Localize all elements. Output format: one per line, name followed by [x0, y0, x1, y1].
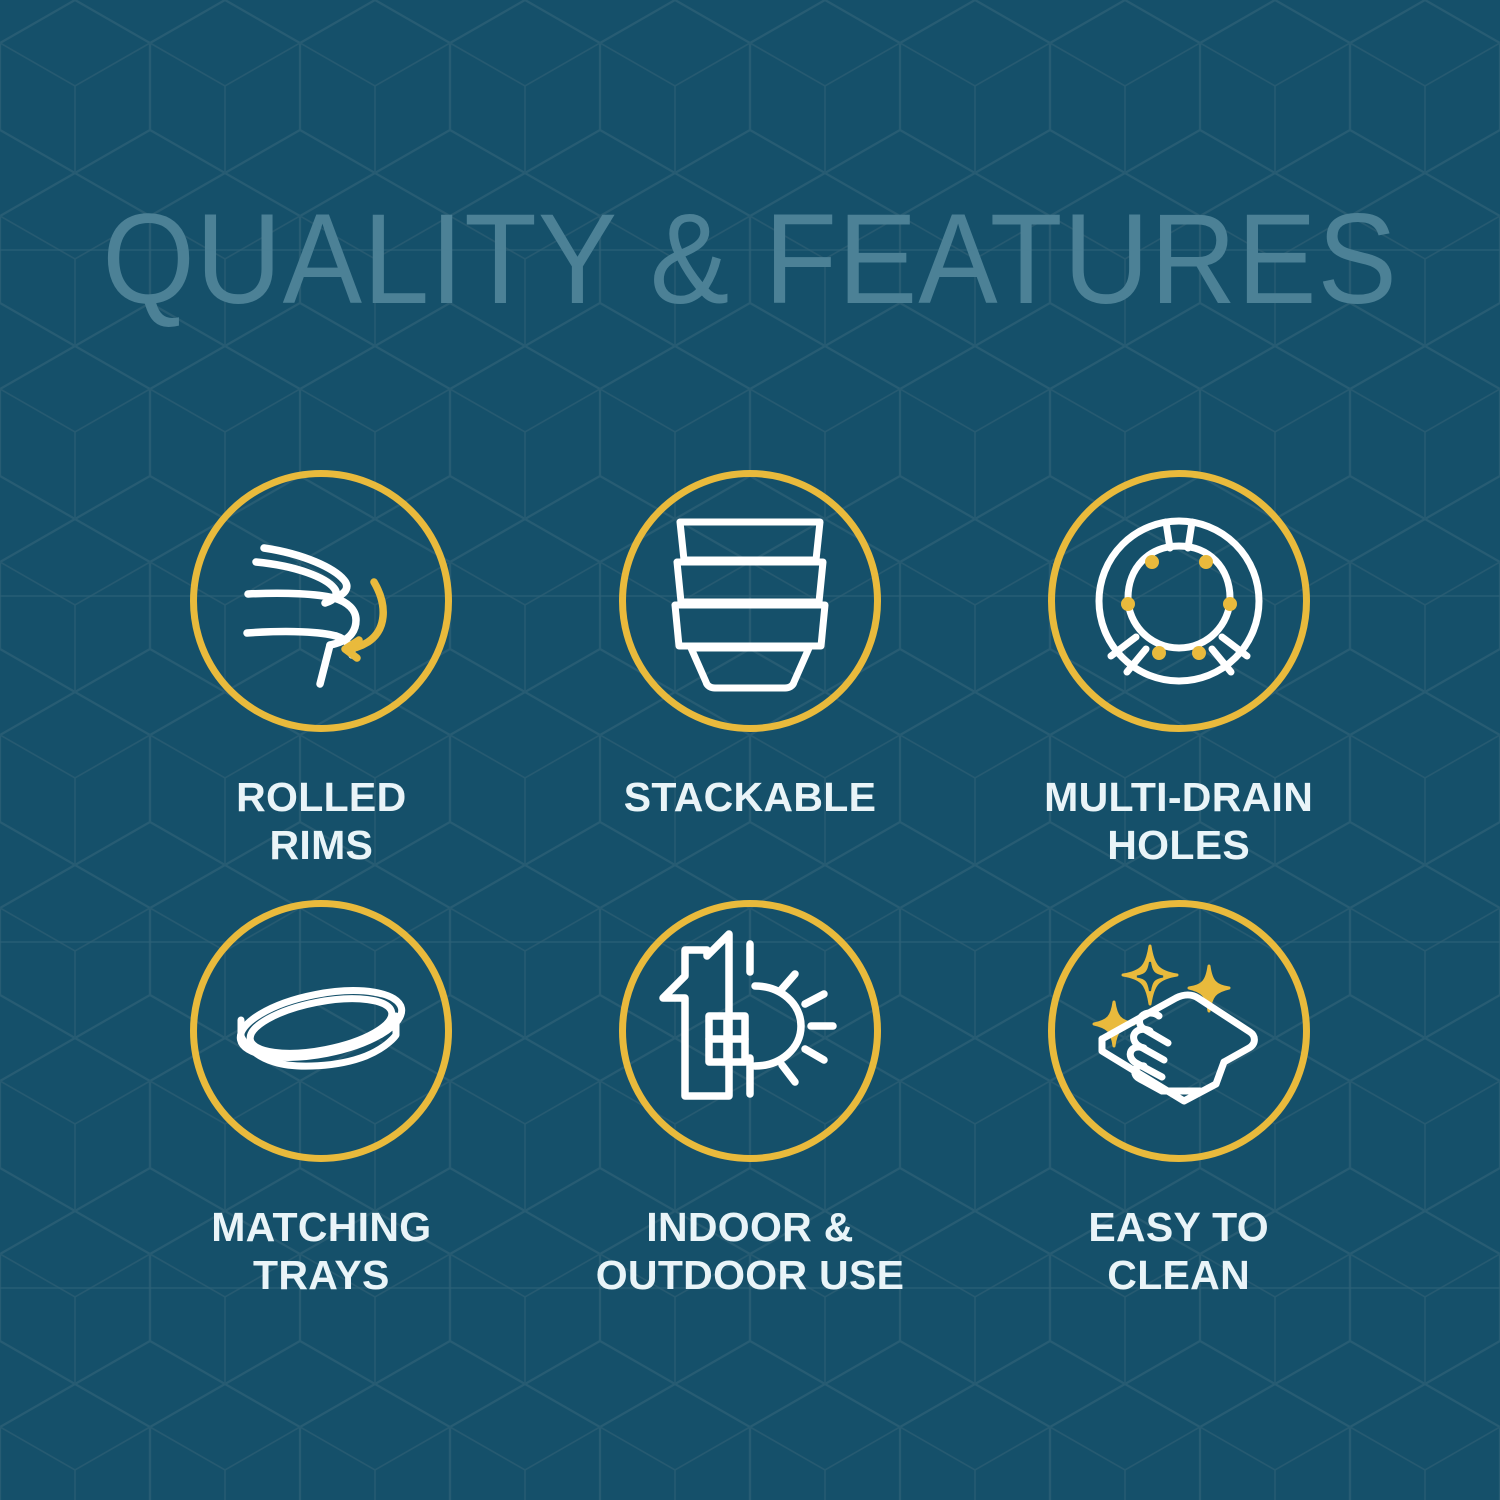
icon-ring — [190, 470, 452, 732]
icon-ring — [190, 900, 452, 1162]
rolled-rim-icon — [226, 506, 416, 696]
feature-indoor-outdoor: INDOOR & OUTDOOR USE — [536, 900, 965, 1330]
tray-saucer-icon — [226, 936, 416, 1126]
page-title: QUALITY & FEATURES — [53, 196, 1448, 324]
feature-label: ROLLED RIMS — [236, 774, 406, 870]
icon-ring — [619, 900, 881, 1162]
feature-infographic: QUALITY & FEATURES — [0, 0, 1500, 1500]
icon-ring — [619, 470, 881, 732]
stacked-pots-icon — [655, 506, 845, 696]
wiping-hand-sparkle-icon — [1084, 936, 1274, 1126]
feature-label: STACKABLE — [624, 774, 876, 822]
feature-label: INDOOR & OUTDOOR USE — [596, 1204, 905, 1300]
feature-label: EASY TO CLEAN — [1088, 1204, 1269, 1300]
feature-easy-to-clean: EASY TO CLEAN — [964, 900, 1393, 1330]
feature-multi-drain-holes: MULTI-DRAIN HOLES — [964, 470, 1393, 900]
feature-label: MATCHING TRAYS — [211, 1204, 431, 1300]
feature-stackable: STACKABLE — [536, 470, 965, 900]
icon-ring — [1048, 470, 1310, 732]
house-sun-icon — [655, 936, 845, 1126]
page-title-container: QUALITY & FEATURES — [0, 196, 1500, 324]
feature-matching-trays: MATCHING TRAYS — [107, 900, 536, 1330]
icon-ring — [1048, 900, 1310, 1162]
features-grid: ROLLED RIMS STACKABLE — [107, 470, 1393, 1330]
drain-holes-icon — [1084, 506, 1274, 696]
feature-rolled-rims: ROLLED RIMS — [107, 470, 536, 900]
feature-label: MULTI-DRAIN HOLES — [1044, 774, 1313, 870]
